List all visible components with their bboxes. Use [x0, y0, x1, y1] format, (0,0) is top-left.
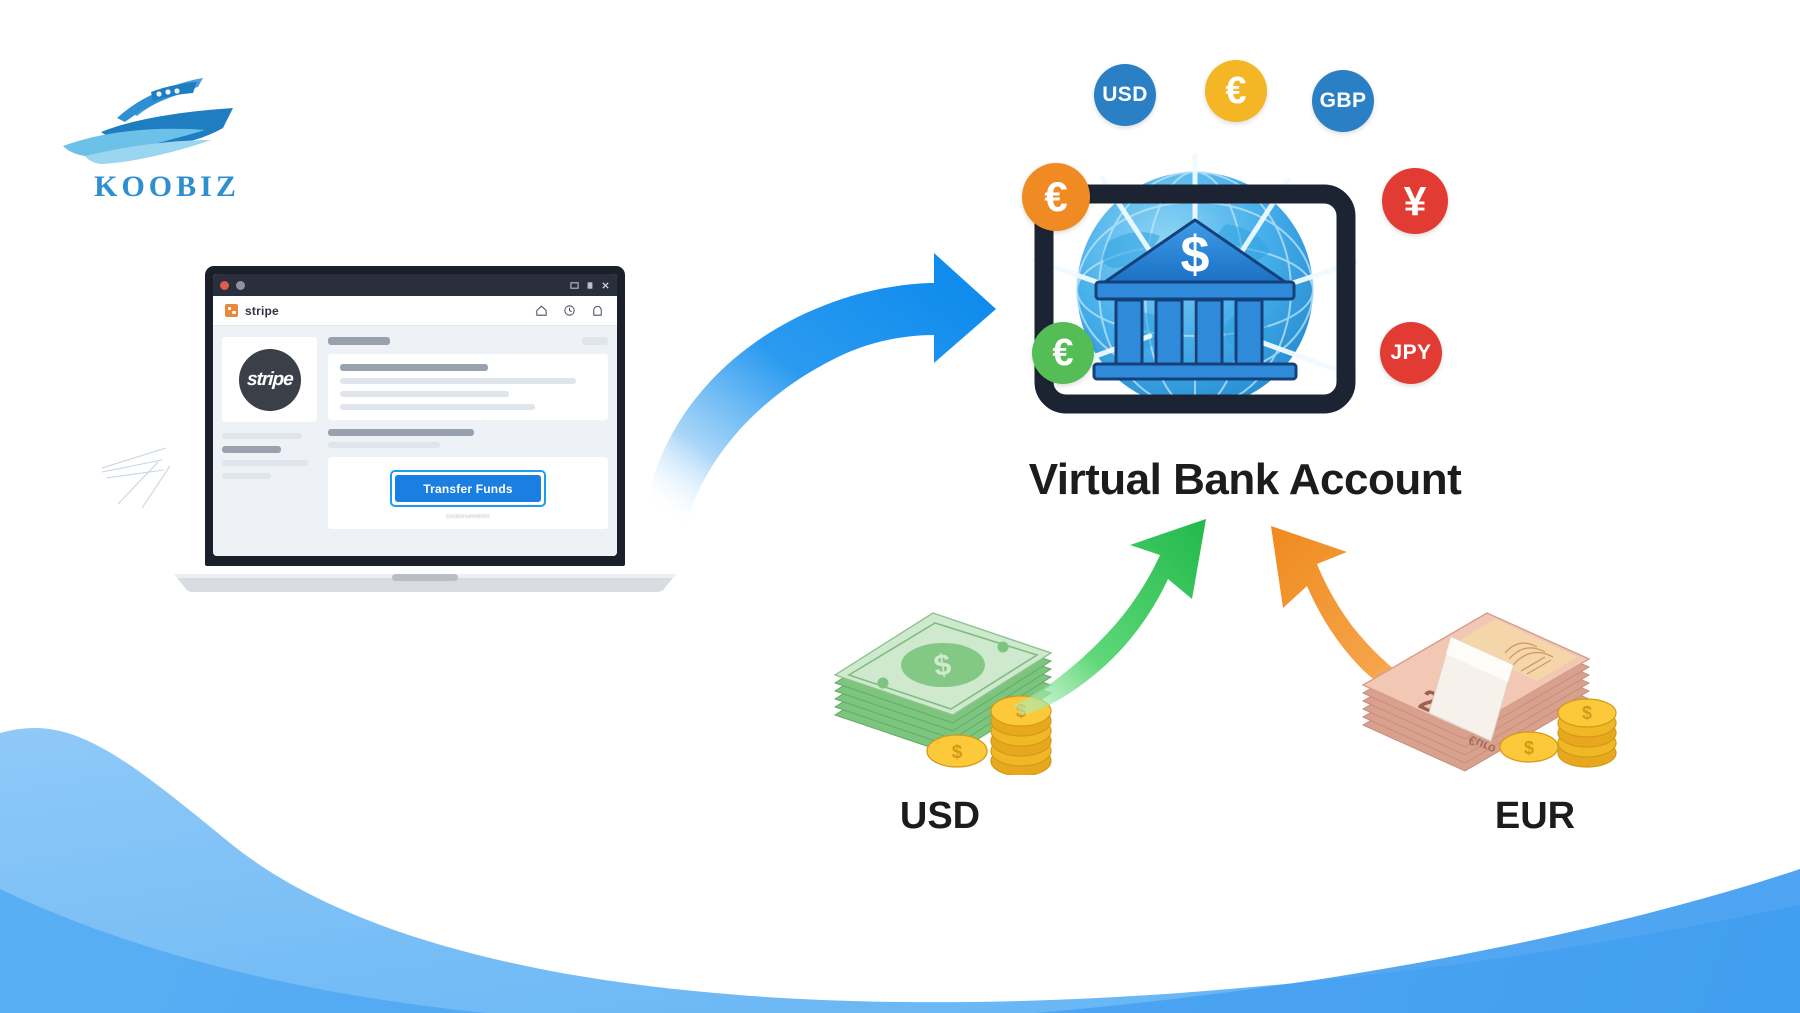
active-tab[interactable]: stripe [225, 304, 279, 318]
dashboard-content: Transfer Funds Disbursements [328, 337, 608, 545]
svg-text:$: $ [952, 742, 963, 763]
placeholder-line [222, 460, 308, 466]
maximize-icon[interactable] [586, 281, 594, 290]
info-card [328, 354, 608, 420]
bookmark-icon[interactable] [590, 303, 605, 318]
dashboard-body: stripe [213, 326, 617, 556]
boat-wave-logo-icon [55, 70, 255, 170]
currency-badge-usd-top: USD [1094, 64, 1156, 126]
placeholder-line [222, 446, 281, 453]
placeholder-line [340, 391, 509, 397]
currency-badge-gbp-top: GBP [1312, 70, 1374, 132]
currency-badge-eur-left-orange: € [1022, 163, 1090, 231]
placeholder-line [328, 429, 474, 436]
browser-titlebar [213, 274, 617, 296]
svg-text:$: $ [1582, 703, 1592, 723]
brand-name: KOOBIZ [77, 170, 257, 204]
currency-badge-eur-top: € [1205, 60, 1267, 122]
transfer-funds-button[interactable]: Transfer Funds [395, 475, 541, 502]
laptop-mockup: stripe [170, 266, 680, 594]
placeholder-line [328, 442, 440, 448]
tab-title: stripe [245, 304, 279, 318]
page-title: Virtual Bank Account [1010, 455, 1480, 505]
currency-badge-jpy-sym: ¥ [1382, 168, 1448, 234]
stripe-logo-word: stripe [246, 369, 293, 391]
browser-toolbar-icons[interactable] [534, 303, 605, 318]
stripe-to-bank-arrow-icon [630, 235, 1000, 535]
transfer-caption: Disbursements [446, 514, 490, 520]
usd-to-bank-arrow-icon [1010, 515, 1220, 715]
sidebar-placeholder-lines [222, 433, 317, 479]
currency-badge-eur-left-green: € [1032, 322, 1094, 384]
close-icon[interactable] [601, 281, 610, 290]
placeholder-line [222, 433, 302, 439]
brand-logo[interactable]: KOOBIZ [55, 70, 255, 210]
laptop-lid: stripe [205, 266, 625, 566]
currency-label-usd: USD [830, 795, 1050, 838]
laptop-screen: stripe [213, 274, 617, 556]
placeholder-line [340, 364, 488, 371]
laptop-base [170, 572, 680, 594]
dashboard-sidebar: stripe [222, 337, 317, 545]
placeholder-line [328, 337, 390, 345]
transfer-funds-focus-ring: Transfer Funds [390, 470, 546, 507]
currency-label-eur: EUR [1425, 795, 1645, 838]
history-icon[interactable] [562, 303, 577, 318]
dollar-symbol: $ [1181, 226, 1210, 284]
transfer-card: Transfer Funds Disbursements [328, 457, 608, 529]
placeholder-line [222, 473, 271, 479]
minimize-icon[interactable] [570, 281, 579, 290]
currency-badge-jpy-code: JPY [1380, 322, 1442, 384]
stripe-logo-badge: stripe [239, 349, 301, 411]
placeholder-line [582, 337, 608, 345]
svg-text:$: $ [1524, 738, 1534, 758]
euro-banknote-bundle-icon: 20 €uro $ $ [1345, 575, 1645, 775]
content-header [328, 337, 608, 345]
section-header-lines [328, 429, 608, 448]
browser-tab-row: stripe [213, 296, 617, 326]
placeholder-line [340, 378, 576, 384]
minimize-dot-gray[interactable] [236, 281, 245, 290]
home-icon[interactable] [534, 303, 549, 318]
stripe-favicon-icon [225, 304, 238, 317]
window-controls[interactable] [570, 281, 610, 290]
stripe-logo-card: stripe [222, 337, 317, 422]
close-dot-red[interactable] [220, 281, 229, 290]
infographic-canvas: KOOBIZ [0, 0, 1800, 1013]
placeholder-line [340, 404, 535, 410]
traffic-lights [220, 281, 245, 290]
